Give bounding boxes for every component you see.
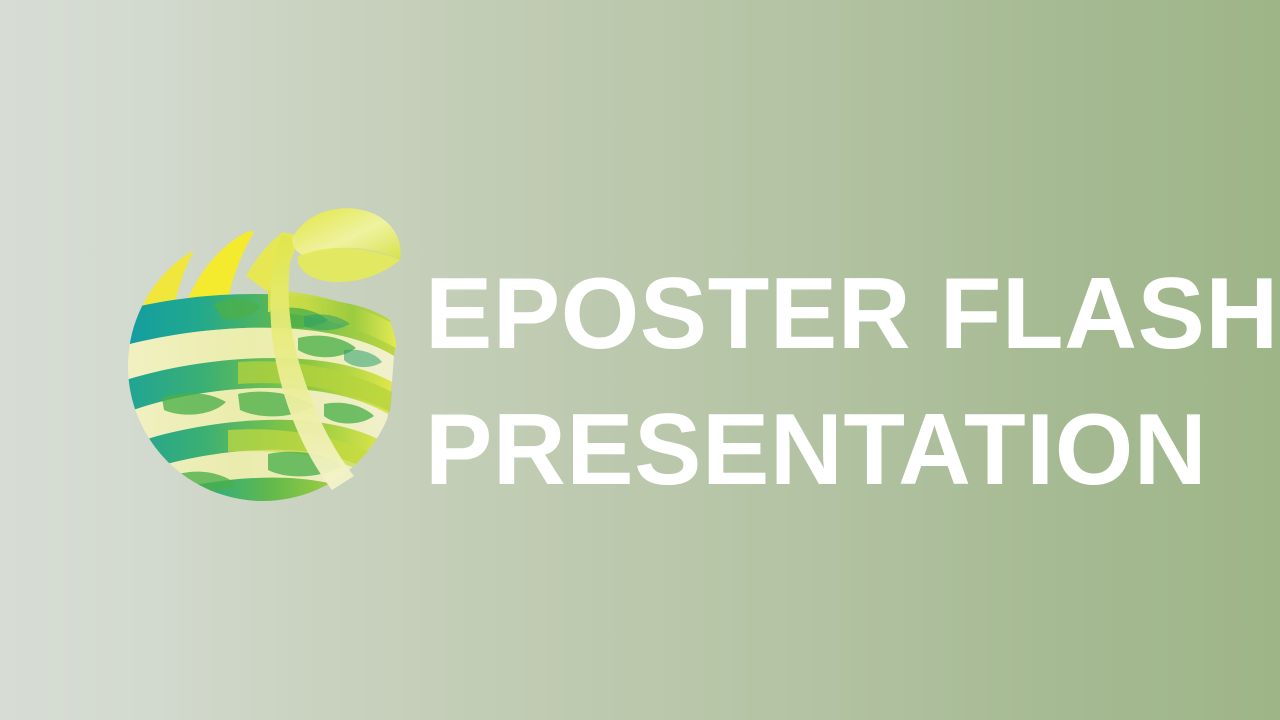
- title-line-2: PRESENTATION: [425, 382, 1225, 518]
- page-title: EPOSTER FLASH PRESENTATION: [425, 246, 1225, 518]
- title-line-1: EPOSTER FLASH: [425, 246, 1225, 382]
- title-slide: EPOSTER FLASH PRESENTATION: [0, 0, 1280, 720]
- spiral-globe-leaf-logo: [118, 198, 408, 518]
- leaf-icon: [292, 208, 401, 282]
